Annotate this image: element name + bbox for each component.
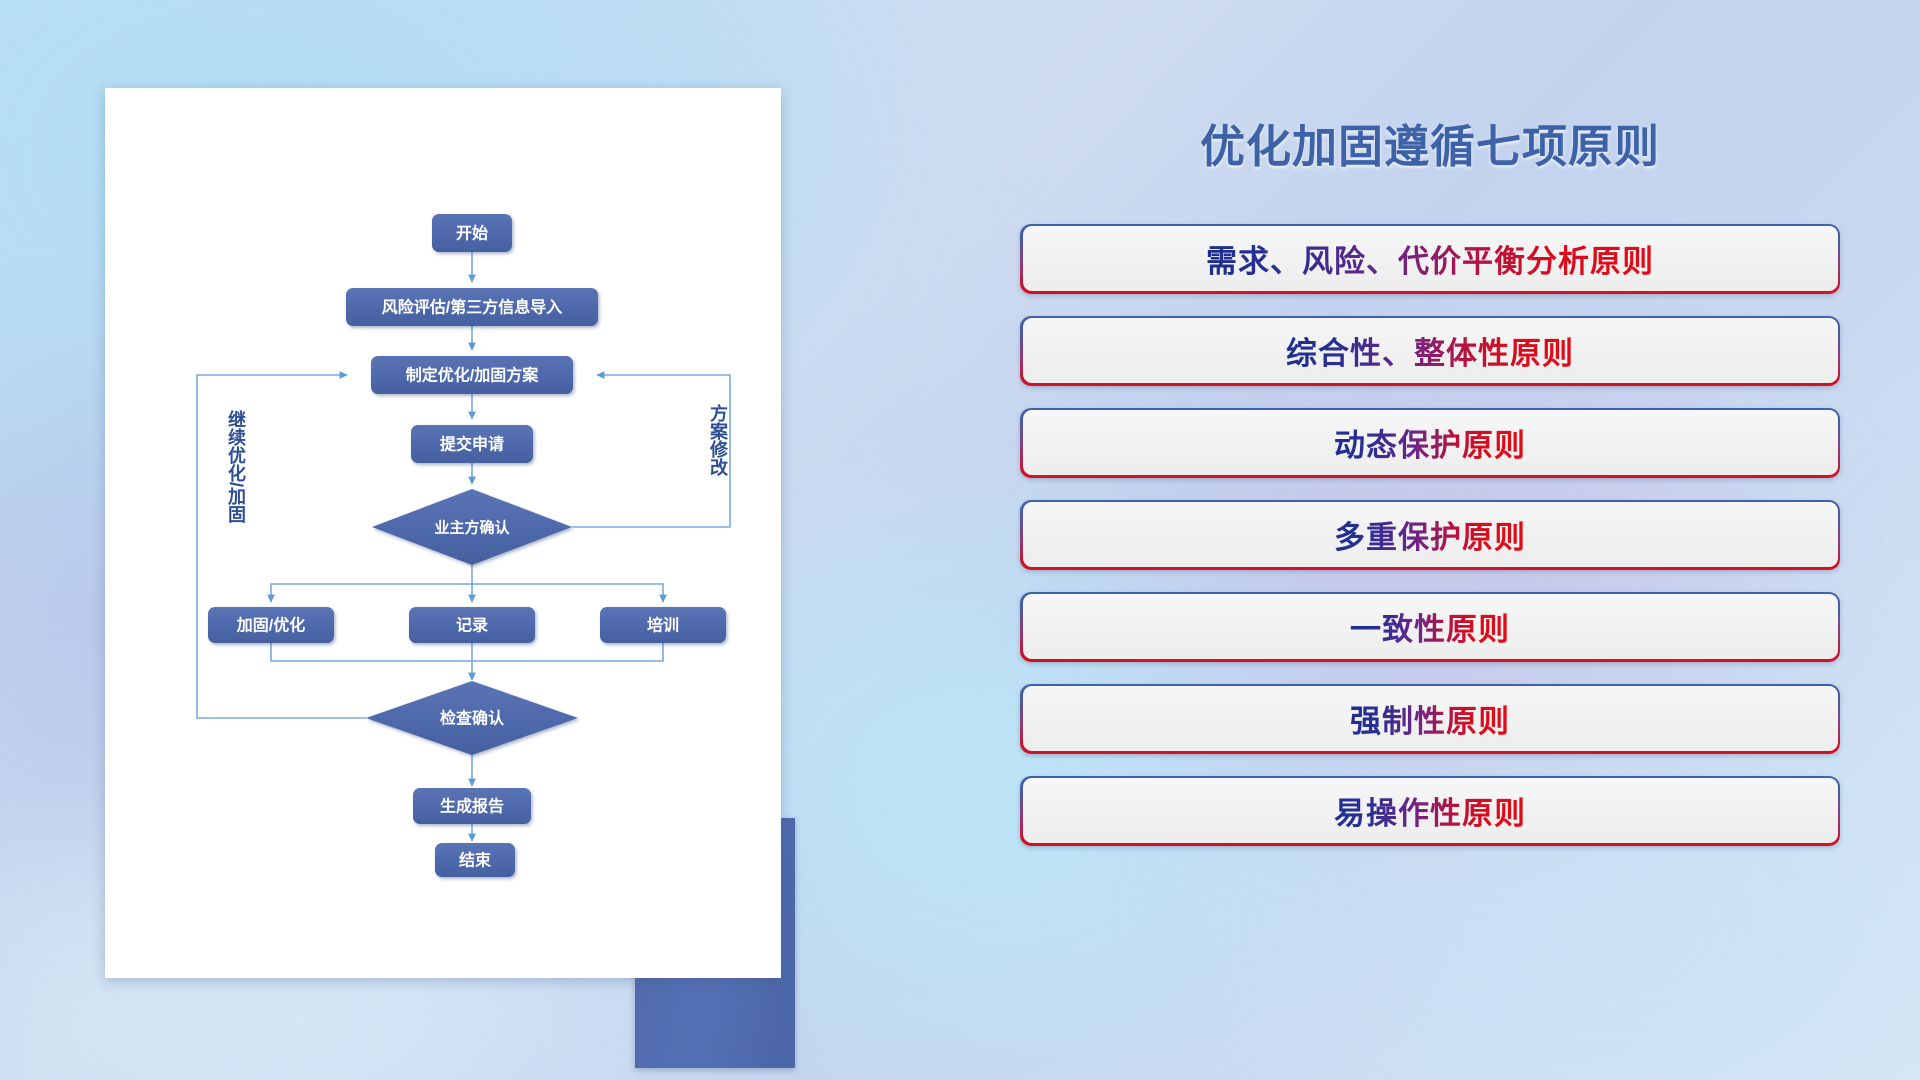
flow-node-generate-report[interactable]: 生成报告 bbox=[413, 788, 531, 824]
principle-label: 需求、风险、代价平衡分析原则 bbox=[1206, 236, 1654, 281]
flow-node-label: 加固/优化 bbox=[236, 616, 305, 635]
flow-node-label: 业主方确认 bbox=[434, 519, 510, 537]
principle-label: 综合性、整体性原则 bbox=[1286, 328, 1574, 373]
flow-node-label: 制定优化/加固方案 bbox=[406, 366, 539, 385]
flow-node-record[interactable]: 记录 bbox=[409, 607, 535, 643]
flow-node-label: 检查确认 bbox=[440, 709, 505, 728]
principle-inner: 动态保护原则 bbox=[1023, 410, 1838, 475]
flow-node-check-confirm[interactable]: 检查确认 bbox=[366, 681, 578, 755]
principle-inner: 一致性原则 bbox=[1023, 594, 1838, 659]
principle-label: 多重保护原则 bbox=[1334, 512, 1526, 557]
principle-inner: 易操作性原则 bbox=[1023, 778, 1838, 843]
principle-item[interactable]: 动态保护原则 bbox=[1020, 408, 1840, 478]
edge-label-plan-revision: 方案修改 bbox=[708, 403, 729, 477]
principle-label: 强制性原则 bbox=[1350, 696, 1510, 741]
principle-item[interactable]: 强制性原则 bbox=[1020, 684, 1840, 754]
flow-node-end[interactable]: 结束 bbox=[435, 843, 515, 877]
principle-item[interactable]: 易操作性原则 bbox=[1020, 776, 1840, 846]
principle-label: 动态保护原则 bbox=[1334, 420, 1526, 465]
principles-title: 优化加固遵循七项原则 bbox=[1020, 122, 1840, 172]
principle-inner: 强制性原则 bbox=[1023, 686, 1838, 751]
flow-node-label: 风险评估/第三方信息导入 bbox=[382, 298, 562, 317]
principle-inner: 需求、风险、代价平衡分析原则 bbox=[1023, 226, 1838, 291]
flow-node-risk-assessment[interactable]: 风险评估/第三方信息导入 bbox=[346, 288, 598, 326]
flow-node-start[interactable]: 开始 bbox=[432, 214, 512, 252]
flow-node-training[interactable]: 培训 bbox=[600, 607, 726, 643]
principle-item[interactable]: 一致性原则 bbox=[1020, 592, 1840, 662]
flowchart-diagram: 开始 风险评估/第三方信息导入 制定优化/加固方案 提交申请 bbox=[105, 88, 781, 978]
flow-node-reinforce-optimize[interactable]: 加固/优化 bbox=[208, 607, 334, 643]
flow-node-label: 结束 bbox=[458, 851, 492, 870]
edge-label-continue-optimize: 继续优化/加固 bbox=[226, 409, 247, 524]
flow-node-label: 生成报告 bbox=[440, 797, 504, 816]
principles-panel: 优化加固遵循七项原则 需求、风险、代价平衡分析原则 综合性、整体性原则 动态保护… bbox=[1020, 100, 1840, 1000]
principle-inner: 综合性、整体性原则 bbox=[1023, 318, 1838, 383]
principle-inner: 多重保护原则 bbox=[1023, 502, 1838, 567]
flow-node-label: 提交申请 bbox=[440, 435, 504, 454]
flowchart-card: 开始 风险评估/第三方信息导入 制定优化/加固方案 提交申请 bbox=[105, 88, 781, 978]
flow-node-owner-confirm[interactable]: 业主方确认 bbox=[372, 489, 572, 565]
flow-node-label: 开始 bbox=[456, 224, 488, 243]
principle-label: 易操作性原则 bbox=[1334, 788, 1526, 833]
flow-node-submit-application[interactable]: 提交申请 bbox=[411, 425, 533, 463]
flow-node-make-plan[interactable]: 制定优化/加固方案 bbox=[371, 356, 573, 394]
principle-item[interactable]: 需求、风险、代价平衡分析原则 bbox=[1020, 224, 1840, 294]
flow-node-label: 记录 bbox=[456, 617, 488, 635]
principles-list: 需求、风险、代价平衡分析原则 综合性、整体性原则 动态保护原则 多重保护原则 一… bbox=[1020, 224, 1840, 846]
flow-node-label: 培训 bbox=[647, 616, 679, 635]
flow-nodes: 开始 风险评估/第三方信息导入 制定优化/加固方案 提交申请 bbox=[208, 214, 726, 877]
principle-label: 一致性原则 bbox=[1350, 604, 1510, 649]
flowchart-panel: 开始 风险评估/第三方信息导入 制定优化/加固方案 提交申请 bbox=[105, 88, 785, 978]
principle-item[interactable]: 综合性、整体性原则 bbox=[1020, 316, 1840, 386]
principle-item[interactable]: 多重保护原则 bbox=[1020, 500, 1840, 570]
